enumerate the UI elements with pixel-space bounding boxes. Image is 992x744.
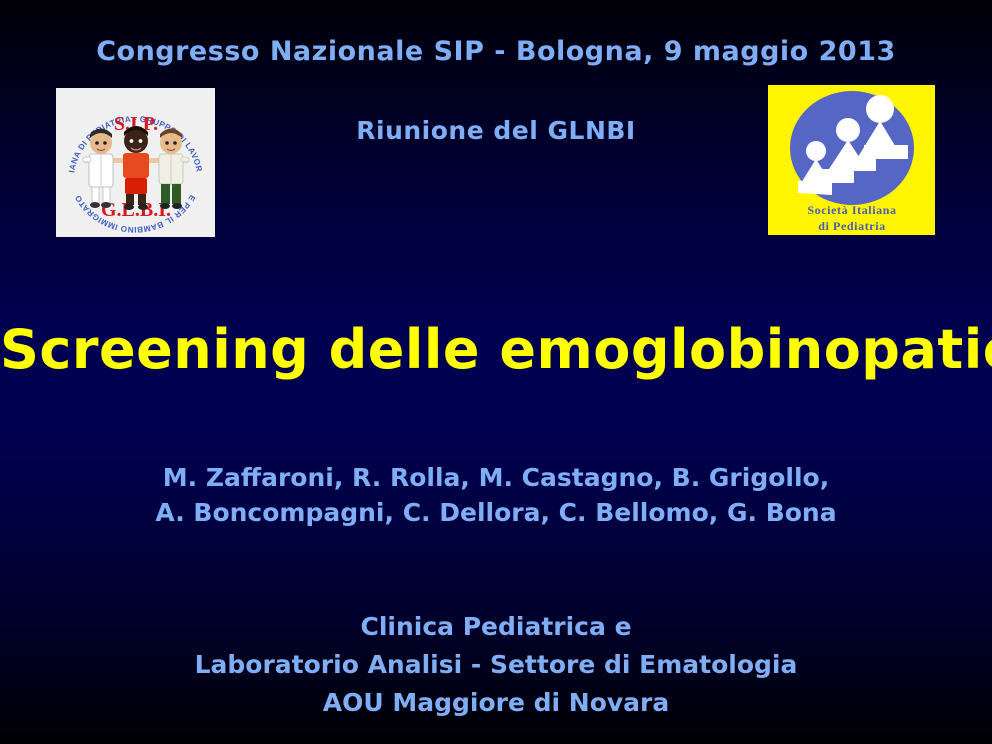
- affiliation-line-1: Clinica Pediatrica e: [0, 608, 992, 646]
- glnbi-acronym-bottom: G.L.B.I.: [101, 199, 171, 221]
- page-title: Screening delle emoglobinopatie: [0, 318, 992, 381]
- sip-caption-line1: Società Italiana: [807, 203, 896, 217]
- congress-header-line: Congresso Nazionale SIP - Bologna, 9 mag…: [0, 36, 992, 67]
- authors-line-1: M. Zaffaroni, R. Rolla, M. Castagno, B. …: [0, 460, 992, 495]
- child-figure-center: [123, 126, 149, 210]
- sip-logo: Società Italiana di Pediatria: [768, 85, 935, 235]
- affiliation-line-2: Laboratorio Analisi - Settore di Ematolo…: [0, 646, 992, 684]
- presentation-slide: Congresso Nazionale SIP - Bologna, 9 mag…: [0, 0, 992, 744]
- affiliation-block: Clinica Pediatrica e Laboratorio Analisi…: [0, 608, 992, 722]
- authors-line-2: A. Boncompagni, C. Dellora, C. Bellomo, …: [0, 495, 992, 530]
- sip-caption-line2: di Pediatria: [818, 219, 886, 233]
- affiliation-line-3: AOU Maggiore di Novara: [0, 684, 992, 722]
- glnbi-logo: SOCIETA ITALIANA DI PEDIATRIA - GRUPPO D…: [56, 88, 215, 237]
- authors-list: M. Zaffaroni, R. Rolla, M. Castagno, B. …: [0, 460, 992, 530]
- glnbi-children-figures: [83, 126, 189, 210]
